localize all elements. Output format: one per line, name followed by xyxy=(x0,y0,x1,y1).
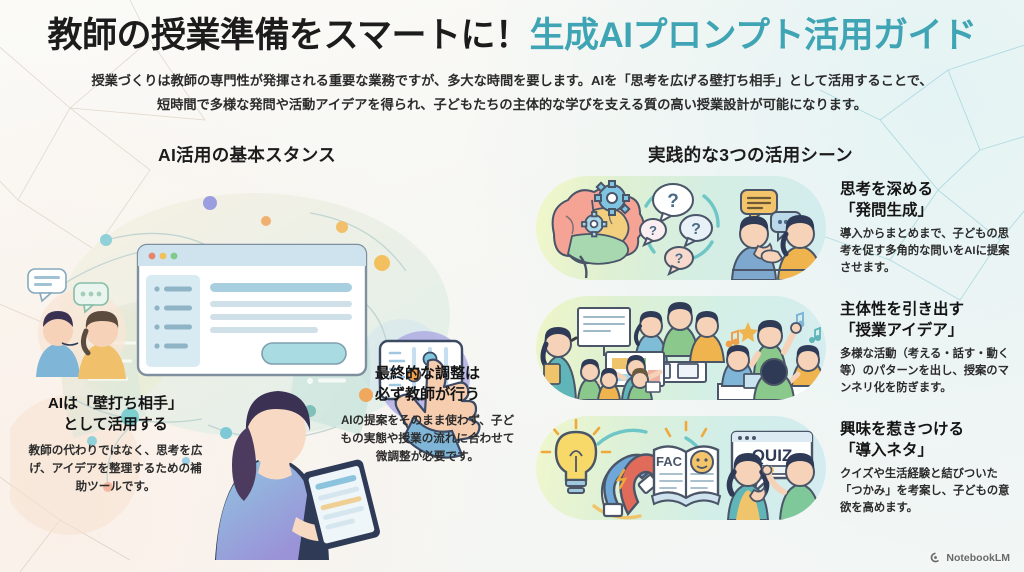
scene-card-2-illustration xyxy=(536,296,826,400)
scene-card-3-text: 興味を惹きつける 「導入ネタ」 クイズや生活経験と結びついた「つかみ」を考案し、… xyxy=(826,419,1016,517)
left-caption-2-heading: 最終的な調整は 必ず教師が行う xyxy=(340,363,515,406)
scene-card-2-body: 多様な活動（考える・話す・動く等）のパターンを出し、授案のマンネリ化を防ぎます。 xyxy=(840,346,1016,397)
section-title-left: AI活用の基本スタンス xyxy=(158,142,336,167)
scene-card-2-text: 主体性を引き出す 「授業アイデア」 多様な活動（考える・話す・動く等）のパターン… xyxy=(826,299,1016,397)
scene-card-3-body: クイズや生活経験と結びついた「つかみ」を考案し、子どもの意欲を高めます。 xyxy=(840,466,1016,517)
left-caption-1-heading-line1: AIは「壁打ち相手」 xyxy=(48,395,183,412)
scene-card-1-body: 導入からまとめまで、子どもの思考を促す多角的な問いをAIに提案させます。 xyxy=(840,226,1016,277)
footer-brand-label: NotebookLM xyxy=(946,552,1010,564)
scene-card-2: 主体性を引き出す 「授業アイデア」 多様な活動（考える・話す・動く等）のパターン… xyxy=(536,292,1016,404)
book-label: FAC xyxy=(656,454,683,469)
scene-card-3-heading: 興味を惹きつける 「導入ネタ」 xyxy=(840,419,1016,461)
scene-card-1: ? ? ? xyxy=(536,172,1016,284)
scene-card-2-heading: 主体性を引き出す 「授業アイデア」 xyxy=(840,299,1016,341)
scene-card-3-illustration: FAC QUIZ xyxy=(536,416,826,520)
scene-card-1-text: 思考を深める 「発問生成」 導入からまとめまで、子どもの思考を促す多角的な問いを… xyxy=(826,179,1016,277)
left-caption-2-heading-line1: 最終的な調整は xyxy=(375,365,480,382)
svg-text:?: ? xyxy=(667,191,679,212)
page-title: 教師の授業準備をスマートに！生成AIプロンプト活用ガイド xyxy=(0,14,1024,58)
svg-text:?: ? xyxy=(691,221,701,238)
svg-text:?: ? xyxy=(649,223,657,238)
svg-text:?: ? xyxy=(675,250,684,266)
left-illustration-panel: AIは「壁打ち相手」 として活用する 教師の代わりではなく、思考を広げ、アイデア… xyxy=(10,165,530,560)
scene-card-1-heading: 思考を深める 「発問生成」 xyxy=(840,179,1016,221)
section-title-right: 実践的な3つの活用シーン xyxy=(648,142,853,167)
scene-card-1-heading-line2: 「発問生成」 xyxy=(840,200,1016,221)
left-caption-1-heading: AIは「壁打ち相手」 として活用する xyxy=(28,393,203,436)
notebooklm-icon xyxy=(929,551,942,564)
scene-card-2-heading-line1: 主体性を引き出す xyxy=(840,301,964,318)
title-main: 教師の授業準備をスマートに！ xyxy=(48,16,530,55)
scene-card-2-heading-line2: 「授業アイデア」 xyxy=(840,320,1016,341)
header: 教師の授業準備をスマートに！生成AIプロンプト活用ガイド 授業づくりは教師の専門… xyxy=(0,14,1024,118)
left-caption-1: AIは「壁打ち相手」 として活用する 教師の代わりではなく、思考を広げ、アイデア… xyxy=(28,393,203,496)
scene-card-3: FAC QUIZ xyxy=(536,412,1016,524)
left-caption-2: 最終的な調整は 必ず教師が行う AIの提案をそのまま使わず、子どもの実態や授業の… xyxy=(340,363,515,466)
scene-card-3-heading-line1: 興味を惹きつける xyxy=(840,421,964,438)
scene-card-1-heading-line1: 思考を深める xyxy=(840,181,933,198)
scene-card-3-heading-line2: 「導入ネタ」 xyxy=(840,440,1016,461)
scene-card-1-illustration: ? ? ? xyxy=(536,176,826,280)
left-caption-2-heading-line2: 必ず教師が行う xyxy=(375,386,480,403)
left-caption-1-heading-line2: として活用する xyxy=(63,416,168,433)
left-caption-1-body: 教師の代わりではなく、思考を広げ、アイデアを整理するための補助ツールです。 xyxy=(28,442,203,496)
lead-line-2: 短時間で多様な発問や活動アイデアを得られ、子どもたちの主体的な学びを支える質の高… xyxy=(62,93,962,117)
title-accent: 生成AIプロンプト活用ガイド xyxy=(530,16,977,55)
footer-brand: NotebookLM xyxy=(929,551,1010,564)
left-caption-2-body: AIの提案をそのまま使わず、子どもの実態や授業の流れに合わせて微調整が必要です。 xyxy=(340,412,515,466)
lead-line-1: 授業づくりは教師の専門性が発揮される重要な業務ですが、多大な時間を要します。AI… xyxy=(62,69,962,93)
lead-paragraph: 授業づくりは教師の専門性が発揮される重要な業務ですが、多大な時間を要します。AI… xyxy=(62,69,962,118)
infographic-page: 教師の授業準備をスマートに！生成AIプロンプト活用ガイド 授業づくりは教師の専門… xyxy=(0,0,1024,572)
scenes-panel: ? ? ? xyxy=(536,172,1016,532)
